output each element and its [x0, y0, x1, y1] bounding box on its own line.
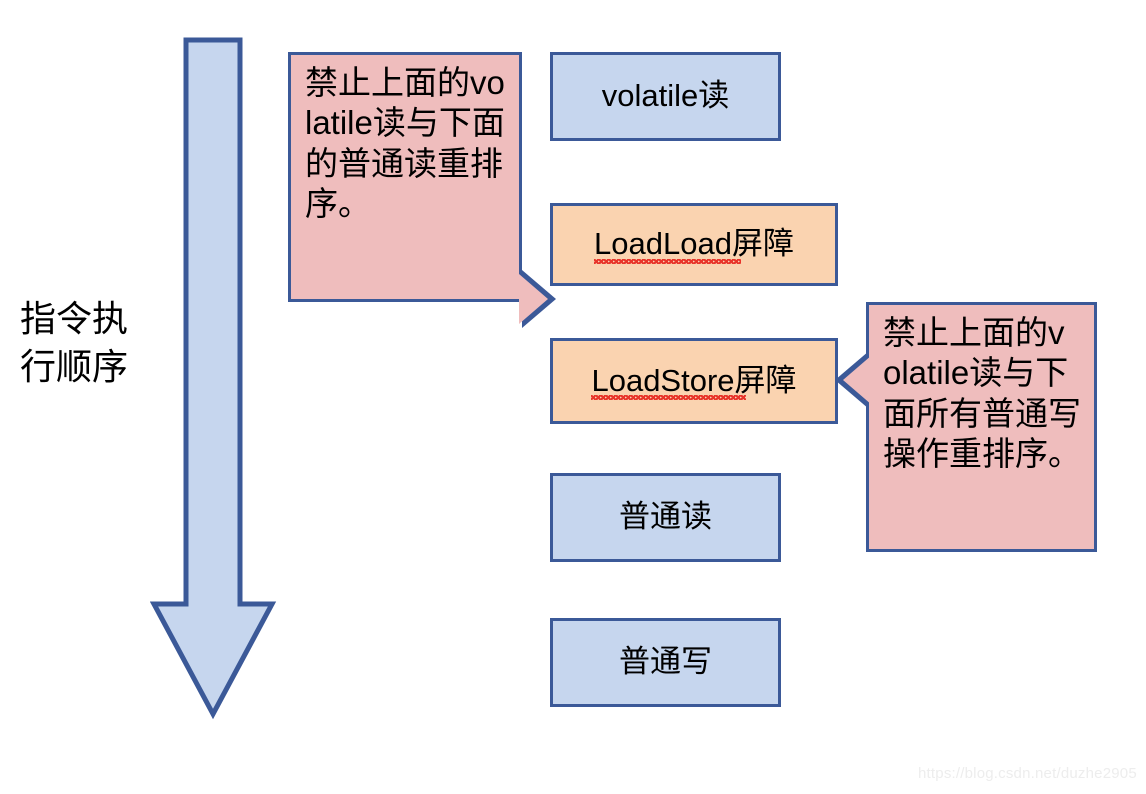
callout-loadstore-note-text: 禁止上面的volatile读与下面所有普通写操作重排序。: [883, 314, 1081, 472]
box-loadload-barrier-text: LoadLoad屏障: [594, 226, 794, 261]
callout-loadload-note[interactable]: 禁止上面的volatile读与下面的普通读重排序。: [288, 52, 522, 302]
watermark: https://blog.csdn.net/duzhe2905: [918, 765, 1137, 782]
spellcheck-underline-icon: [594, 259, 741, 264]
callout-loadstore-tail-fill: [843, 355, 872, 405]
box-loadstore-barrier-text: LoadStore屏障: [591, 363, 796, 398]
callout-loadload-note-text: 禁止上面的volatile读与下面的普通读重排序。: [305, 64, 505, 222]
spellcheck-underline-icon: [591, 395, 746, 400]
callout-loadstore-note[interactable]: 禁止上面的volatile读与下面所有普通写操作重排序。: [866, 302, 1097, 552]
box-normal-write-label: 普通写: [619, 645, 712, 679]
box-loadstore-barrier-label: LoadStore屏障: [591, 364, 796, 398]
box-volatile-read[interactable]: volatile读: [550, 52, 781, 141]
box-loadload-barrier-label: LoadLoad屏障: [594, 227, 794, 261]
box-loadstore-barrier[interactable]: LoadStore屏障: [550, 338, 838, 424]
box-normal-read-label: 普通读: [619, 500, 712, 534]
instruction-order-arrow-icon: [150, 36, 278, 722]
box-normal-read[interactable]: 普通读: [550, 473, 781, 562]
callout-loadload-tail-fill: [519, 274, 548, 324]
diagram-canvas: 指令执 行顺序 volatile读 LoadLoad屏障 LoadStore屏障…: [0, 0, 1146, 794]
box-volatile-read-label: volatile读: [602, 79, 730, 113]
box-normal-write[interactable]: 普通写: [550, 618, 781, 707]
box-loadload-barrier[interactable]: LoadLoad屏障: [550, 203, 838, 286]
